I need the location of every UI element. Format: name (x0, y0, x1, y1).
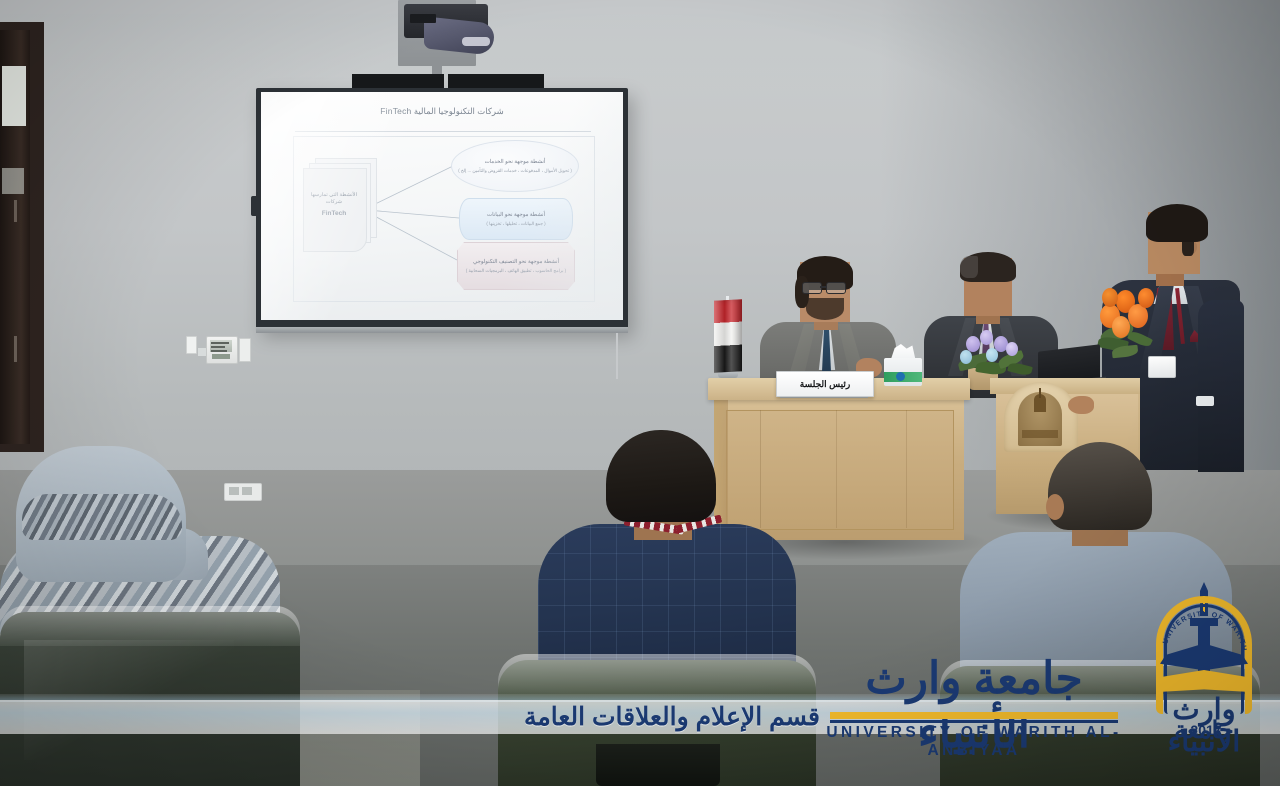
table-grain-line-1 (760, 410, 761, 528)
thermostat-line-3 (211, 350, 227, 352)
thermostat-button[interactable] (212, 354, 230, 359)
wordmark-english: UNIVERSITY OF WARITH AL-ANBIYAA (824, 724, 1124, 760)
thermostat-line-2 (211, 346, 225, 348)
flower-arrangement-purple (958, 330, 1032, 380)
door-handle[interactable] (14, 200, 17, 222)
podium-emblem-spire (1039, 388, 1041, 398)
table-grain-line-3 (906, 410, 907, 528)
socket-outlet-left (229, 487, 239, 495)
whiteboard-tray (256, 327, 628, 333)
attendee-left-scarf-pattern (22, 494, 182, 540)
department-label: قسم الإعلام والعلاقات العامة (400, 702, 820, 732)
speaker-badge (1148, 356, 1176, 378)
speaker-hair (1146, 204, 1208, 242)
speaker-arm (1198, 300, 1244, 472)
door-glass-panel (2, 66, 26, 126)
nameplate: رئيس الجلسة (776, 371, 874, 397)
crest-founding-year: 2017 (1184, 722, 1228, 738)
flag-fold-shading (714, 299, 742, 372)
eyeglasses-lens-right (826, 282, 846, 294)
flower-arrangement-orange (1098, 280, 1168, 358)
projection-glare (261, 92, 623, 320)
nameplate-text: رئيس الجلسة (800, 379, 850, 390)
wall-switch-secondary[interactable] (239, 338, 251, 362)
university-crest-icon: UNIVERSITY OF WARITH AL-ANBIYAA وارث الأ… (1138, 582, 1270, 750)
door-handle-lower[interactable] (14, 336, 17, 362)
socket-outlet-right (242, 487, 252, 495)
wordmark-navy-bar (830, 720, 1118, 723)
session-chairman-beard (806, 298, 844, 320)
podium-emblem-base (1022, 430, 1058, 438)
door-glass-panel-lower (2, 168, 24, 194)
panel-member-grey-hair (960, 256, 978, 278)
table-grain-line-2 (836, 410, 837, 528)
eyeglasses-bridge (820, 286, 827, 288)
light-switch[interactable] (186, 336, 197, 354)
projector-brand-label (410, 14, 436, 23)
whiteboard-clip (251, 196, 260, 216)
attendee-right-ear (1046, 494, 1064, 520)
speaker-hand (1068, 396, 1094, 414)
speaker-shirt-cuff (1196, 396, 1214, 406)
wordmark-gold-bar (830, 712, 1118, 719)
tissue-box-logo (896, 372, 905, 381)
conference-photo: شركات التكنولوجيا المالية FinTech الأنشط… (0, 0, 1280, 786)
chair-center-base (596, 744, 720, 786)
projector-lens (462, 37, 490, 46)
wall-cable (616, 333, 618, 379)
university-wordmark: جامعة وارث الأنبياء UNIVERSITY OF WARITH… (824, 646, 1124, 750)
eyeglasses-lens-left (802, 282, 822, 294)
thermostat-line-1 (211, 342, 229, 344)
